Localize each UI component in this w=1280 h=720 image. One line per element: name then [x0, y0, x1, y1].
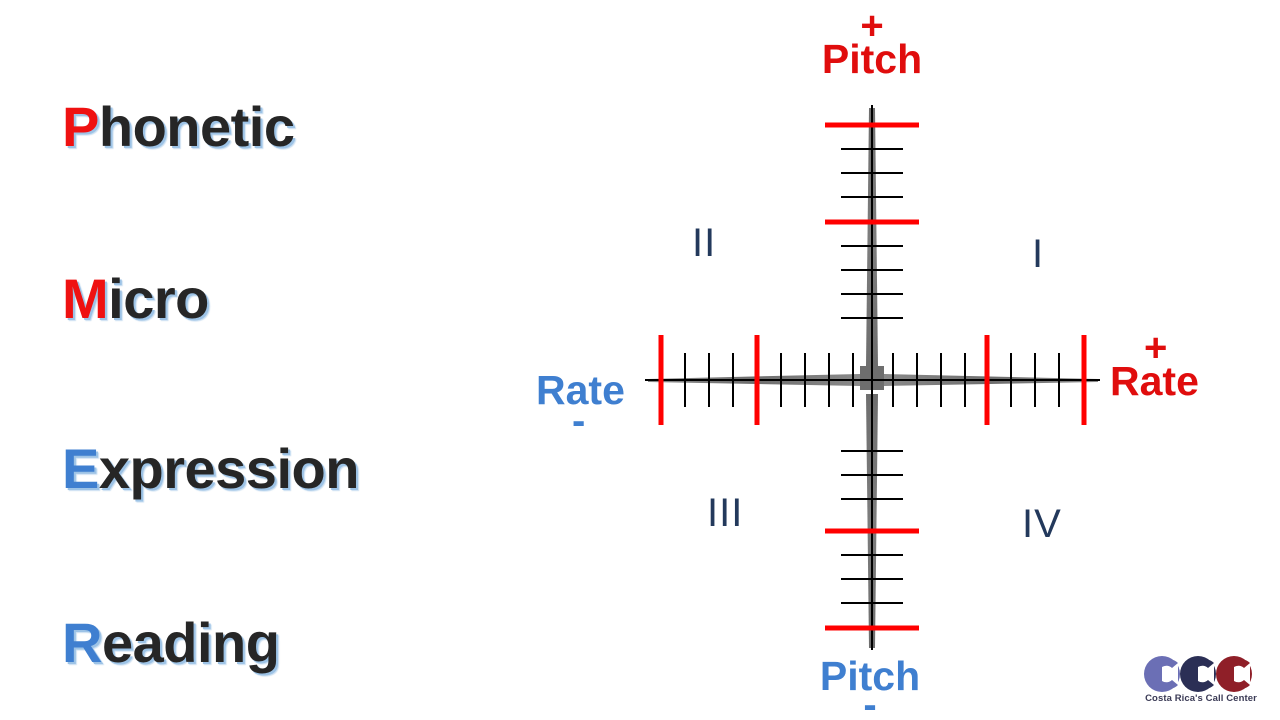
- pitch-positive-text: Pitch: [820, 39, 924, 80]
- quadrant-label-3: III: [707, 491, 743, 536]
- quadrant-label-2: II: [692, 221, 716, 266]
- logo-c-navy: [1180, 656, 1216, 692]
- axis-label-pitch-positive: + Pitch: [820, 14, 924, 80]
- logo-c-red: [1216, 656, 1252, 692]
- axis-label-rate-positive: + Rate: [1110, 336, 1199, 402]
- company-logo: Costa Rica's Call Center: [1136, 655, 1266, 713]
- slide-canvas: Phonetic Micro Expression Reading: [0, 0, 1280, 720]
- logo-mark: [1136, 655, 1266, 695]
- quadrant-label-1: I: [1032, 232, 1044, 277]
- axis-label-pitch-negative: Pitch -: [818, 656, 922, 718]
- logo-caption: Costa Rica's Call Center: [1136, 693, 1266, 704]
- quadrant-label-4: IV: [1022, 502, 1062, 547]
- logo-c-purple: [1144, 656, 1180, 692]
- axis-label-rate-negative: Rate -: [536, 370, 625, 434]
- rate-positive-text: Rate: [1110, 361, 1199, 402]
- pitch-rate-axis-chart: [0, 0, 1280, 720]
